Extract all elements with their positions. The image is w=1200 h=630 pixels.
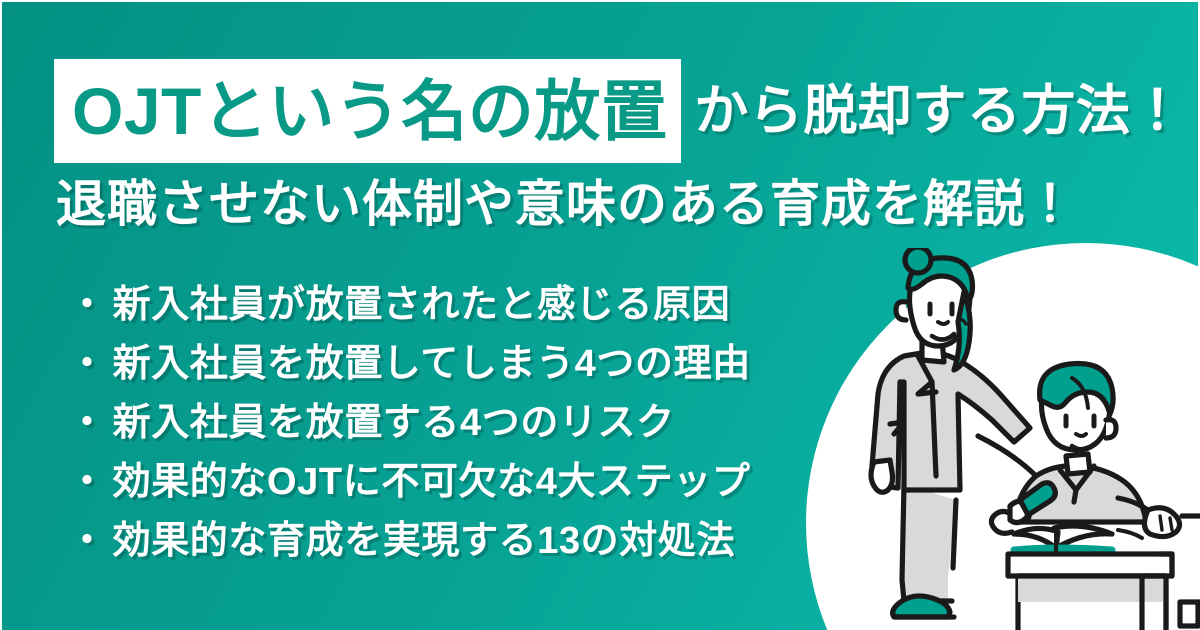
list-item: ・ 新入社員を放置する4つのリスク: [68, 404, 751, 463]
headline-tail: から脱却する方法！: [694, 84, 1185, 138]
list-item-label: 新入社員を放置してしまう4つの理由: [113, 345, 751, 383]
desk: [1008, 554, 1172, 630]
illustration: [860, 248, 1200, 630]
headline-highlight: OJTという名の放置: [54, 59, 681, 163]
bullet-marker-icon: ・: [68, 345, 107, 383]
chair: [1180, 516, 1200, 626]
headline: OJTという名の放置 から脱却する方法！: [54, 50, 1185, 172]
list-item-label: 新入社員を放置する4つのリスク: [113, 404, 675, 442]
eyecatch-canvas: OJTという名の放置 から脱却する方法！ 退職させない体制や意味のある育成を解説…: [0, 0, 1200, 630]
list-item-label: 新入社員が放置されたと感じる原因: [113, 286, 731, 324]
topic-list: ・ 新入社員が放置されたと感じる原因 ・ 新入社員を放置してしまう4つの理由 ・…: [68, 286, 751, 581]
bullet-marker-icon: ・: [68, 286, 107, 324]
bullet-marker-icon: ・: [68, 463, 107, 501]
bullet-marker-icon: ・: [68, 522, 107, 560]
list-item: ・ 効果的なOJTに不可欠な4大ステップ: [68, 463, 751, 522]
mentor-and-trainee-illustration: [860, 248, 1200, 630]
list-item: ・ 新入社員を放置してしまう4つの理由: [68, 345, 751, 404]
list-item-label: 効果的なOJTに不可欠な4大ステップ: [113, 463, 751, 501]
list-item: ・ 効果的な育成を実現する13の対処法: [68, 522, 751, 581]
open-book: [1014, 526, 1142, 550]
list-item-label: 効果的な育成を実現する13の対処法: [113, 522, 735, 560]
bullet-marker-icon: ・: [68, 404, 107, 442]
subheadline: 退職させない体制や意味のある育成を解説！: [56, 174, 1076, 234]
list-item: ・ 新入社員が放置されたと感じる原因: [68, 286, 751, 345]
